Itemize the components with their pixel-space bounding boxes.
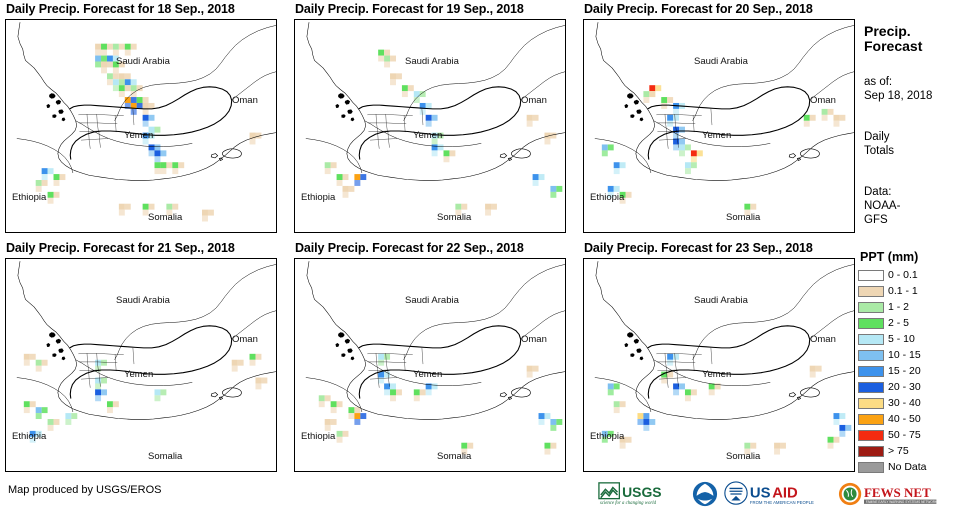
panel-title: Daily Precip. Forecast for 20 Sep., 2018 [584, 2, 813, 16]
map-canvas [584, 20, 854, 232]
legend-row: 1 - 2 [858, 299, 967, 315]
legend-row: 20 - 30 [858, 379, 967, 395]
panel-title: Daily Precip. Forecast for 18 Sep., 2018 [6, 2, 235, 16]
legend-label: > 75 [888, 445, 909, 457]
legend-label: 0 - 0.1 [888, 269, 918, 281]
sidebar-aggregation-block: Daily Totals [864, 130, 894, 158]
legend-swatch [858, 382, 884, 393]
legend-label: 2 - 5 [888, 317, 909, 329]
map-canvas [295, 20, 565, 232]
legend-row: 10 - 15 [858, 347, 967, 363]
sidebar-title: Precip. Forecast [864, 24, 922, 54]
forecast-panel-grid: Daily Precip. Forecast for 18 Sep., 2018… [0, 0, 855, 478]
forecast-panel: Daily Precip. Forecast for 20 Sep., 2018… [578, 0, 863, 239]
legend-label: 15 - 20 [888, 365, 921, 377]
map-frame: Saudi ArabiaOmanYemenEthiopiaSomalia [294, 258, 566, 472]
map-frame: Saudi ArabiaOmanYemenEthiopiaSomalia [5, 19, 277, 233]
sidebar-asof-label: as of: [864, 75, 932, 89]
legend-row: No Data [858, 459, 967, 475]
svg-text:science for a changing world: science for a changing world [600, 501, 657, 506]
legend-swatch [858, 350, 884, 361]
legend-swatch [858, 398, 884, 409]
legend-swatch [858, 286, 884, 297]
map-canvas [295, 259, 565, 471]
precip-legend: PPT (mm) 0 - 0.10.1 - 11 - 22 - 55 - 101… [858, 250, 967, 475]
sidebar-asof-block: as of: Sep 18, 2018 [864, 75, 932, 103]
map-credit: Map produced by USGS/EROS [8, 484, 161, 496]
legend-swatch [858, 270, 884, 281]
map-frame: Saudi ArabiaOmanYemenEthiopiaSomalia [294, 19, 566, 233]
legend-label: 10 - 15 [888, 349, 921, 361]
sidebar-title-line1: Precip. [864, 24, 922, 39]
sidebar-data-line2: NOAA- [864, 199, 900, 213]
legend-row: 2 - 5 [858, 315, 967, 331]
forecast-panel: Daily Precip. Forecast for 22 Sep., 2018… [289, 239, 574, 478]
panel-title: Daily Precip. Forecast for 19 Sep., 2018 [295, 2, 524, 16]
legend-label: 0.1 - 1 [888, 285, 918, 297]
usgs-logo: USGS science for a changing world [598, 481, 687, 507]
map-canvas [584, 259, 854, 471]
panel-title: Daily Precip. Forecast for 23 Sep., 2018 [584, 241, 813, 255]
legend-swatch [858, 462, 884, 473]
legend-label: No Data [888, 461, 927, 473]
legend-row: 0 - 0.1 [858, 267, 967, 283]
panel-title: Daily Precip. Forecast for 21 Sep., 2018 [6, 241, 235, 255]
legend-row: > 75 [858, 443, 967, 459]
map-frame: Saudi ArabiaOmanYemenEthiopiaSomalia [583, 19, 855, 233]
legend-row: 5 - 10 [858, 331, 967, 347]
legend-label: 20 - 30 [888, 381, 921, 393]
map-frame: Saudi ArabiaOmanYemenEthiopiaSomalia [583, 258, 855, 472]
legend-swatch [858, 414, 884, 425]
noaa-logo [692, 481, 718, 507]
legend-row: 30 - 40 [858, 395, 967, 411]
map-frame: Saudi ArabiaOmanYemenEthiopiaSomalia [5, 258, 277, 472]
svg-text:FAMINE EARLY WARNING SYSTEMS N: FAMINE EARLY WARNING SYSTEMS NETWORK [866, 500, 938, 504]
legend-swatch [858, 446, 884, 457]
legend-row: 0.1 - 1 [858, 283, 967, 299]
legend-label: 5 - 10 [888, 333, 915, 345]
sidebar-asof-date: Sep 18, 2018 [864, 89, 932, 103]
legend-label: 1 - 2 [888, 301, 909, 313]
forecast-panel: Daily Precip. Forecast for 23 Sep., 2018… [578, 239, 863, 478]
logo-bar: USGS science for a changing world US AID… [598, 480, 940, 508]
legend-swatch [858, 318, 884, 329]
svg-text:USGS: USGS [622, 484, 661, 500]
legend-swatch [858, 366, 884, 377]
legend-row: 50 - 75 [858, 427, 967, 443]
legend-label: 50 - 75 [888, 429, 921, 441]
legend-swatch [858, 302, 884, 313]
panel-title: Daily Precip. Forecast for 22 Sep., 2018 [295, 241, 524, 255]
forecast-panel: Daily Precip. Forecast for 18 Sep., 2018… [0, 0, 285, 239]
sidebar-daily-line2: Totals [864, 144, 894, 158]
legend-label: 40 - 50 [888, 413, 921, 425]
legend-rows: 0 - 0.10.1 - 11 - 22 - 55 - 1010 - 1515 … [858, 267, 967, 475]
sidebar-title-line2: Forecast [864, 39, 922, 54]
svg-text:FEWS NET: FEWS NET [864, 485, 931, 500]
legend-swatch [858, 430, 884, 441]
sidebar-data-label: Data: [864, 185, 900, 199]
legend-row: 15 - 20 [858, 363, 967, 379]
fews-net-logo: FEWS NET FAMINE EARLY WARNING SYSTEMS NE… [838, 481, 940, 507]
map-canvas [6, 20, 276, 232]
legend-swatch [858, 334, 884, 345]
forecast-panel: Daily Precip. Forecast for 21 Sep., 2018… [0, 239, 285, 478]
map-canvas [6, 259, 276, 471]
sidebar-data-line3: GFS [864, 213, 900, 227]
legend-label: 30 - 40 [888, 397, 921, 409]
legend-row: 40 - 50 [858, 411, 967, 427]
legend-title: PPT (mm) [860, 250, 967, 264]
sidebar-daily-line1: Daily [864, 130, 894, 144]
sidebar-source-block: Data: NOAA- GFS [864, 185, 900, 227]
usaid-logo: US AID FROM THE AMERICAN PEOPLE [723, 481, 833, 507]
forecast-panel: Daily Precip. Forecast for 19 Sep., 2018… [289, 0, 574, 239]
svg-text:FROM THE AMERICAN PEOPLE: FROM THE AMERICAN PEOPLE [750, 500, 814, 505]
